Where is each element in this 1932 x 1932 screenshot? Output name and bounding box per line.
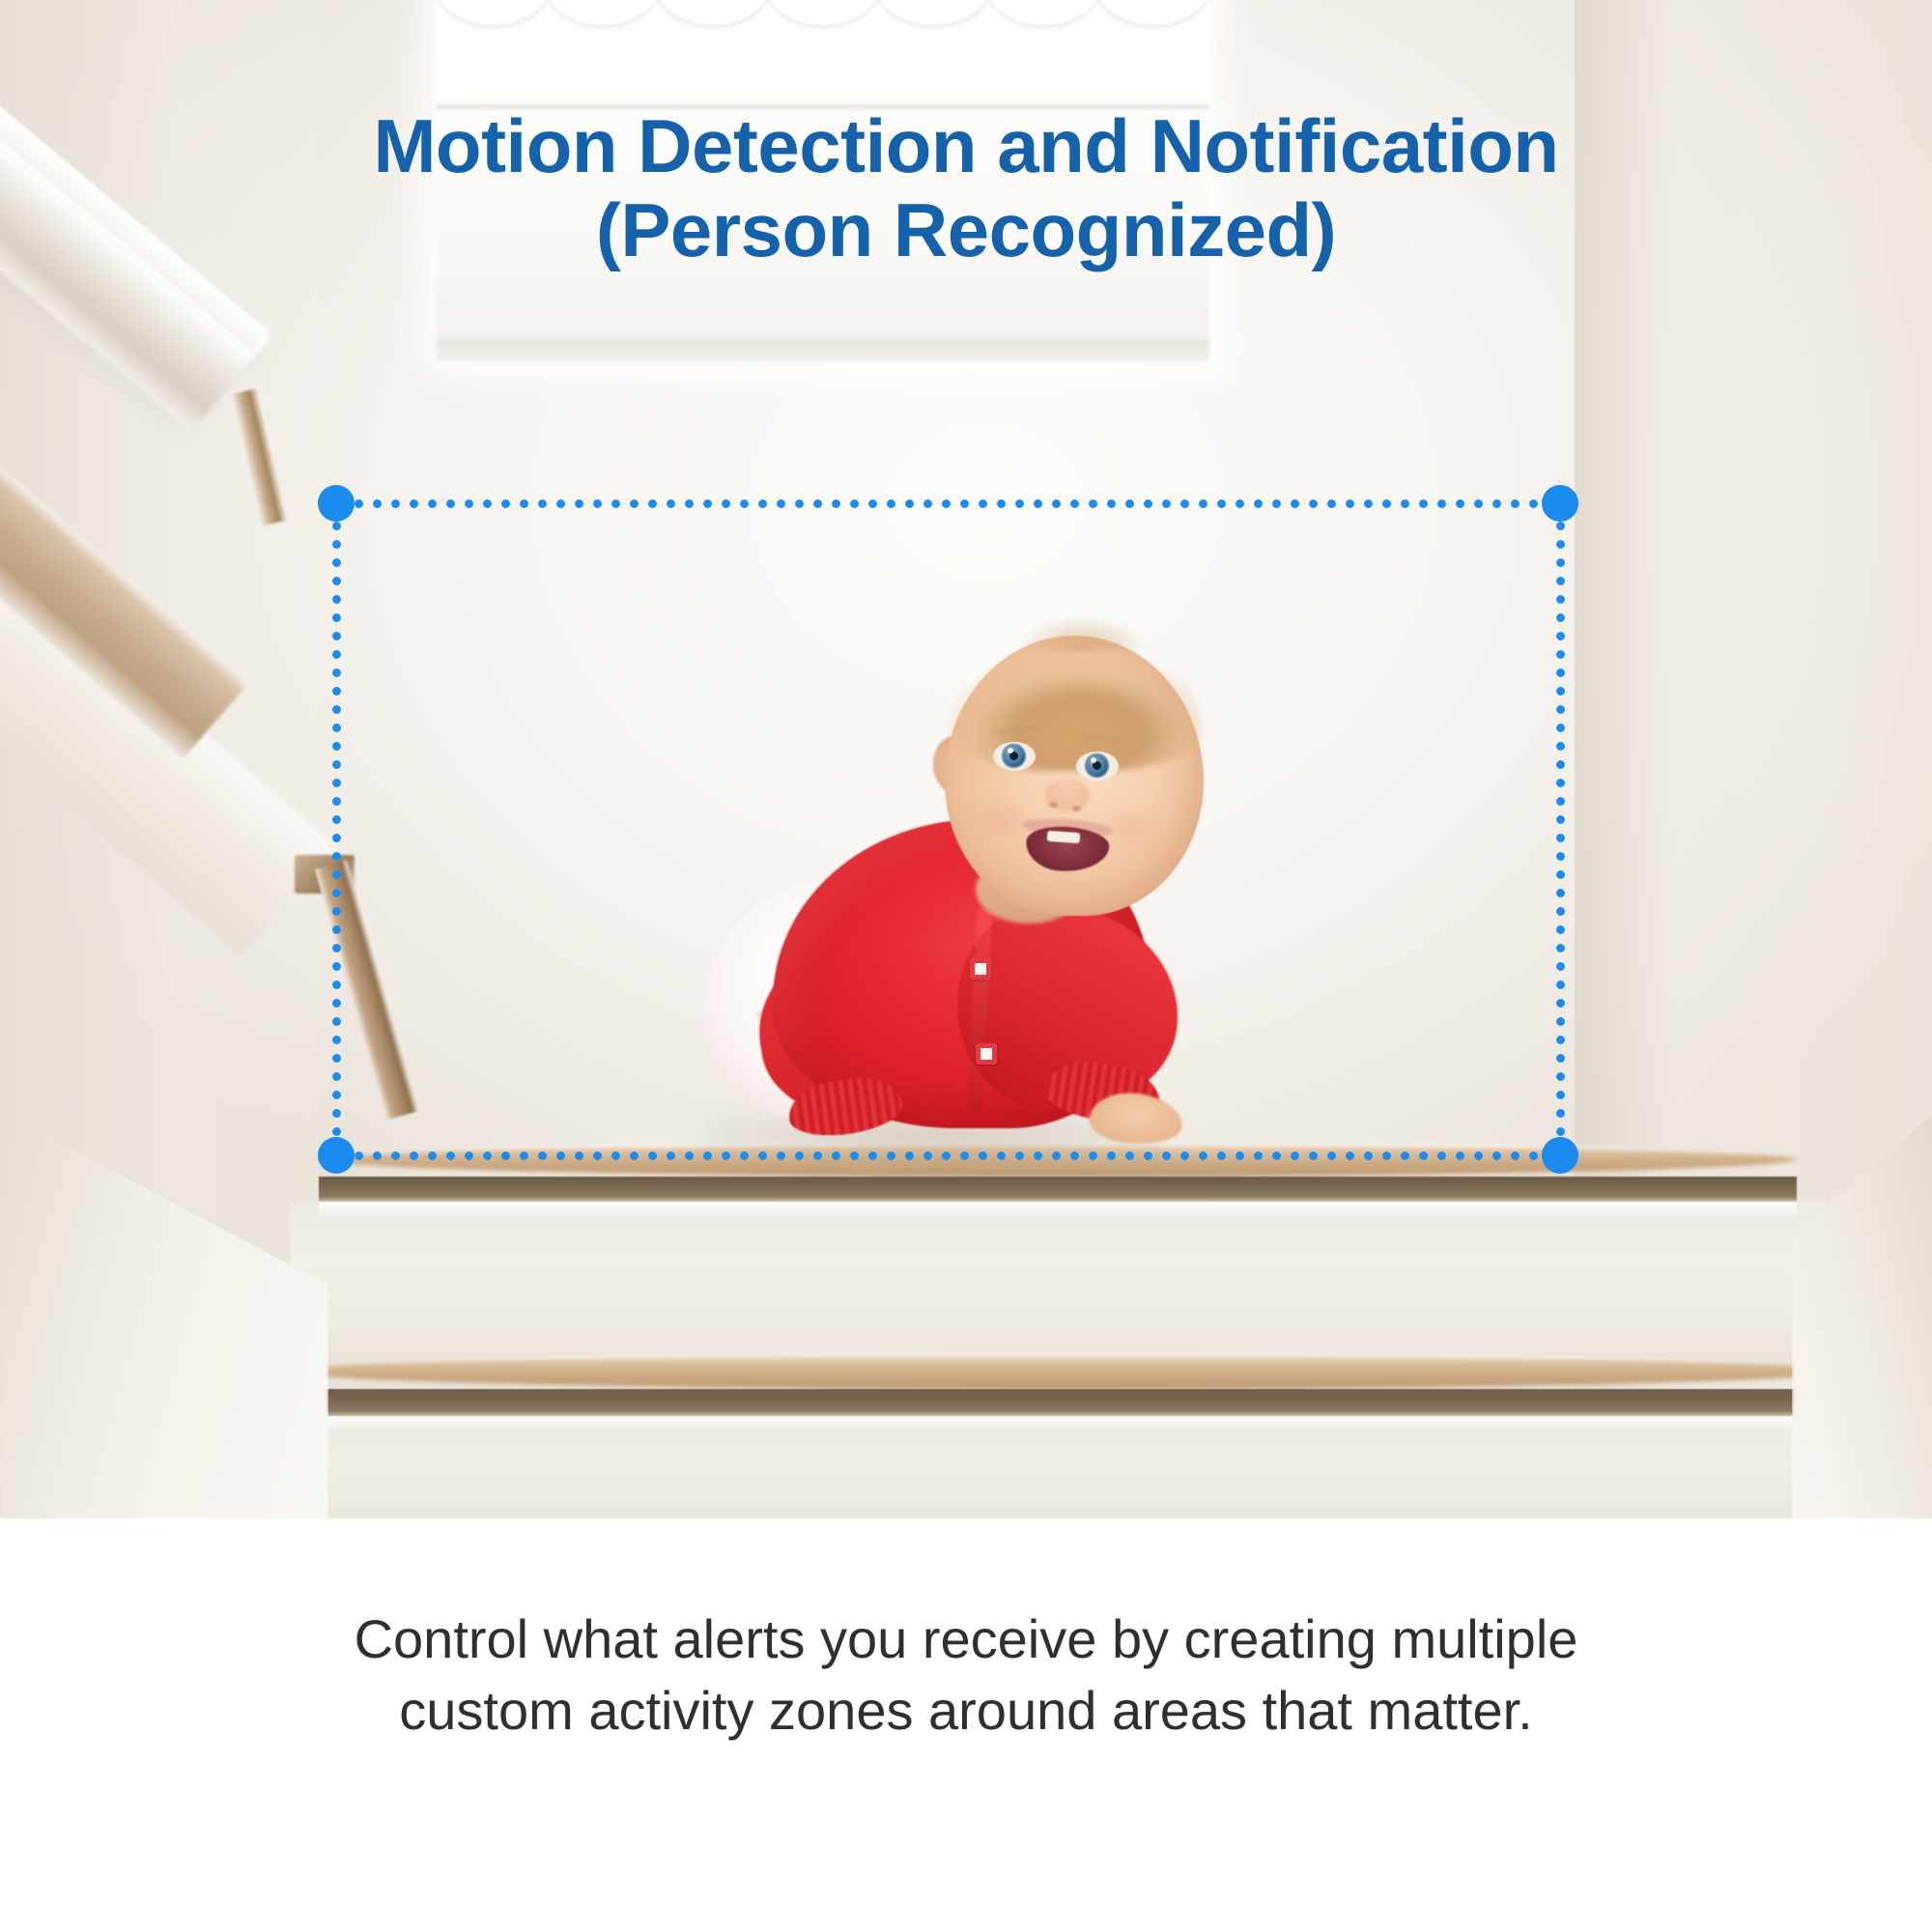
window-valance xyxy=(437,0,1209,27)
activity-zone-handle-bottom-left[interactable] xyxy=(318,1137,355,1174)
baby-hair-wisp xyxy=(1020,616,1146,651)
feature-graphic-page: Motion Detection and Notification (Perso… xyxy=(0,0,1932,1932)
baby-tooth xyxy=(1047,831,1081,843)
page-title: Motion Detection and Notification (Perso… xyxy=(0,104,1932,273)
stair-riser-upper xyxy=(290,1202,1826,1376)
tread-riser-highlight xyxy=(319,1202,1797,1217)
cardigan-button-upper xyxy=(970,958,991,980)
valance-scallop xyxy=(1097,0,1209,25)
page-title-line-1: Motion Detection and Notification xyxy=(373,103,1558,188)
baby-nostril-right xyxy=(1072,806,1081,811)
valance-scallop xyxy=(877,0,989,25)
activity-zone-handle-top-left[interactable] xyxy=(318,485,355,522)
activity-zone-edge-left[interactable] xyxy=(332,503,341,1155)
tread-underside xyxy=(282,1389,1847,1416)
window-sill xyxy=(437,340,1209,355)
tread-nosing xyxy=(282,1352,1847,1389)
baby-subject xyxy=(667,618,1246,1159)
tread-underside xyxy=(319,1177,1797,1202)
activity-zone-edge-bottom[interactable] xyxy=(336,1151,1560,1160)
scene-photo: Motion Detection and Notification (Perso… xyxy=(0,0,1932,1519)
baby-cheek-right xyxy=(1103,806,1161,848)
baby-nostril-left xyxy=(1049,802,1058,808)
valance-scallop xyxy=(987,0,1099,25)
baby-cheek-left xyxy=(974,798,1032,840)
activity-zone-handle-bottom-right[interactable] xyxy=(1542,1137,1578,1174)
page-title-line-2: (Person Recognized) xyxy=(0,188,1932,272)
tread-riser-highlight xyxy=(282,1416,1847,1432)
baby-eye-glint-left xyxy=(1008,748,1013,753)
valance-scallop xyxy=(437,0,549,25)
baby-eye-glint-right xyxy=(1091,757,1096,763)
valance-scallop xyxy=(767,0,879,25)
stair-tread-lower xyxy=(282,1352,1847,1416)
activity-zone-handle-top-right[interactable] xyxy=(1542,485,1578,522)
activity-zone-edge-top[interactable] xyxy=(336,499,1560,508)
feature-caption: Control what alerts you receive by creat… xyxy=(309,1604,1623,1747)
cardigan-button-lower xyxy=(976,1043,997,1065)
activity-zone-edge-right[interactable] xyxy=(1556,503,1565,1155)
valance-scallop xyxy=(547,0,659,25)
valance-scallop xyxy=(657,0,769,25)
